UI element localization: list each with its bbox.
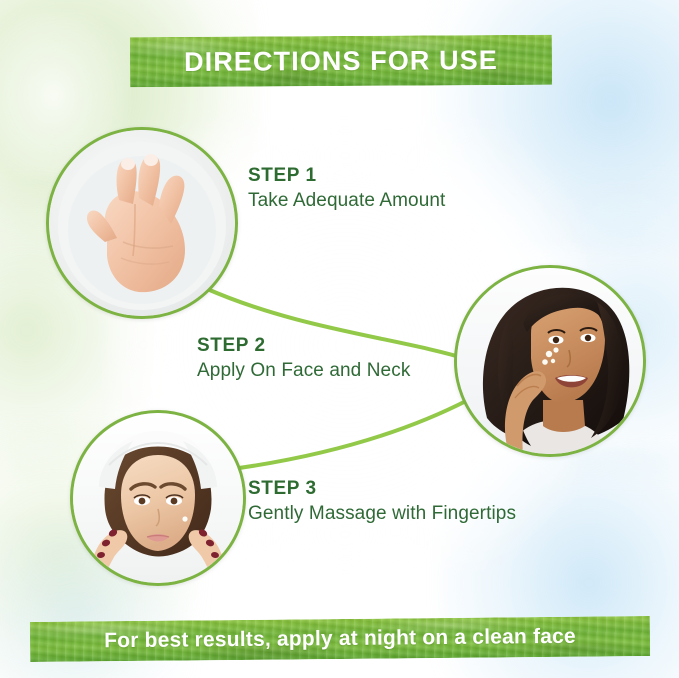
footer-tip-text: For best results, apply at night on a cl… <box>104 625 576 654</box>
footer-banner: For best results, apply at night on a cl… <box>30 616 650 662</box>
step-1-text-block: STEP 1 Take Adequate Amount <box>248 166 445 212</box>
hand-illustration <box>49 130 235 316</box>
step-2-description: Apply On Face and Neck <box>197 360 410 382</box>
step-2-text-block: STEP 2 Apply On Face and Neck <box>197 336 410 382</box>
step-2-title: STEP 2 <box>197 336 410 357</box>
step-1-description: Take Adequate Amount <box>248 190 445 212</box>
step-3-image-circle <box>70 410 246 586</box>
step-2-image-circle <box>454 265 646 457</box>
step-1-image-circle <box>46 127 238 319</box>
step-3-photo-woman-massaging <box>73 413 243 583</box>
step-3-description: Gently Massage with Fingertips <box>248 503 516 525</box>
step-3-title: STEP 3 <box>248 479 516 500</box>
step-3-text-block: STEP 3 Gently Massage with Fingertips <box>248 479 516 525</box>
step-1-photo-hand <box>49 130 235 316</box>
step-2-photo-woman-applying-cream <box>457 268 643 454</box>
directions-for-use-infographic: DIRECTIONS FOR USE <box>0 0 679 678</box>
step-1-title: STEP 1 <box>248 166 445 187</box>
woman-applying-cream-illustration <box>457 268 643 454</box>
connector-step2-to-step3 <box>225 400 468 470</box>
woman-massaging-illustration <box>73 413 243 583</box>
